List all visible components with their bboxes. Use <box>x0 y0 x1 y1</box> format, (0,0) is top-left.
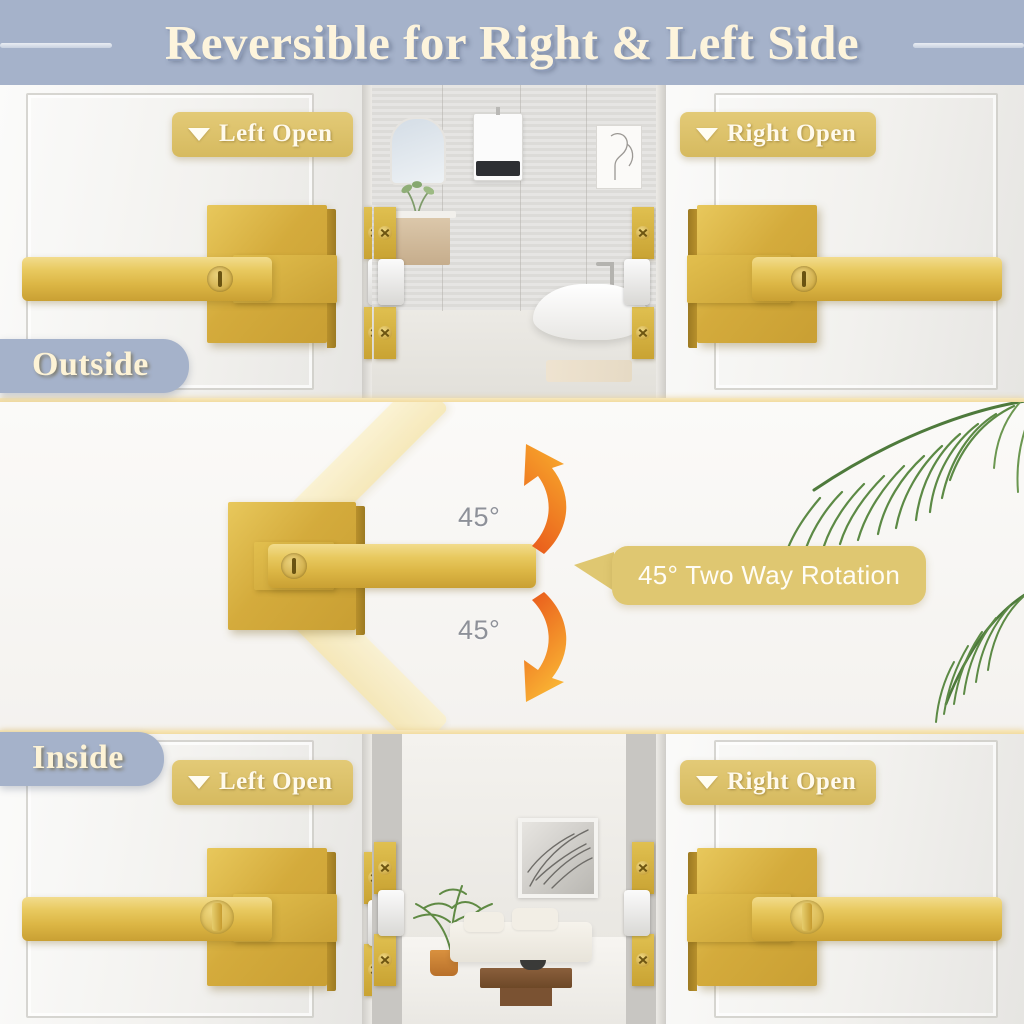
strike-plate-left <box>374 207 396 259</box>
badge-label: Right Open <box>727 120 856 148</box>
side-label-inside: Inside <box>0 732 164 786</box>
screw-icon <box>636 326 650 340</box>
keyhole-icon <box>281 553 307 579</box>
screw-icon <box>378 326 392 340</box>
badge-label: Right Open <box>727 768 856 796</box>
latch-bolt-right <box>624 890 650 936</box>
water-heater <box>473 113 523 181</box>
badge-left-open-inside[interactable]: Left Open <box>172 760 353 805</box>
keyhole-icon <box>207 266 233 292</box>
strike-plate-right <box>632 207 654 259</box>
triangle-down-icon <box>696 128 718 141</box>
callout-text: 45° Two Way Rotation <box>638 560 900 590</box>
badge-left-open-outside[interactable]: Left Open <box>172 112 353 157</box>
bath-rug <box>546 360 632 382</box>
badge-label: Left Open <box>219 120 333 148</box>
side-label-outside: Outside <box>0 339 189 393</box>
strike-plate-right <box>632 307 654 359</box>
latch-bolt-left <box>378 890 404 936</box>
latch-bolt-right <box>624 259 650 305</box>
lever-handle-right-outside <box>752 257 1002 301</box>
strike-plate-right <box>632 842 654 894</box>
lever-handle-left-inside <box>22 897 272 941</box>
bathroom-mirror <box>390 117 446 185</box>
screw-icon <box>378 226 392 240</box>
door-edge <box>656 734 666 1024</box>
curved-arrow-up-icon <box>482 438 582 558</box>
callout-rotation[interactable]: 45° Two Way Rotation <box>612 546 926 605</box>
section-rotation: 45° 45° 45° Two Way Rotation <box>0 402 1024 730</box>
bathroom-vanity <box>392 217 450 265</box>
sofa-cushion <box>512 908 558 930</box>
coffee-table <box>480 968 572 988</box>
screw-icon <box>378 861 392 875</box>
triangle-down-icon <box>188 128 210 141</box>
heater-pipe <box>496 107 500 115</box>
page-title: Reversible for Right & Left Side <box>0 14 1024 71</box>
badge-right-open-inside[interactable]: Right Open <box>680 760 876 805</box>
screw-icon <box>636 226 650 240</box>
lever-handle-left-outside <box>22 257 272 301</box>
product-infographic: Reversible for Right & Left Side <box>0 0 1024 1024</box>
triangle-down-icon <box>696 776 718 789</box>
scene-living-room <box>372 734 656 1024</box>
curved-arrow-down-icon <box>482 586 582 708</box>
triangle-down-icon <box>188 776 210 789</box>
badge-right-open-outside[interactable]: Right Open <box>680 112 876 157</box>
thumb-turn-icon[interactable] <box>200 900 234 934</box>
header-banner: Reversible for Right & Left Side <box>0 0 1024 85</box>
screw-icon <box>636 861 650 875</box>
coffee-table-base <box>500 988 552 1006</box>
tile-seam <box>442 85 443 311</box>
screw-icon <box>378 953 392 967</box>
callout-tail <box>574 552 614 591</box>
thumb-turn-icon[interactable] <box>790 900 824 934</box>
heater-display <box>476 161 520 176</box>
side-label-text: Outside <box>32 346 149 384</box>
keyhole-icon <box>791 266 817 292</box>
vanity-countertop <box>386 211 456 218</box>
strike-plate-left <box>374 307 396 359</box>
tile-seam <box>586 85 587 311</box>
side-label-text: Inside <box>32 739 124 777</box>
badge-label: Left Open <box>219 768 333 796</box>
line-art-figure-icon <box>597 126 641 188</box>
screw-icon <box>636 953 650 967</box>
latch-bolt-left <box>378 259 404 305</box>
door-edge <box>656 85 666 398</box>
framed-palm-art <box>518 818 598 898</box>
sofa-cushion <box>464 912 504 932</box>
strike-plate-left <box>374 934 396 986</box>
strike-plate-left <box>374 842 396 894</box>
strike-plate-right <box>632 934 654 986</box>
scene-bathroom <box>372 85 656 398</box>
bathroom-wall-art <box>596 125 642 189</box>
palm-print-icon <box>522 822 594 894</box>
